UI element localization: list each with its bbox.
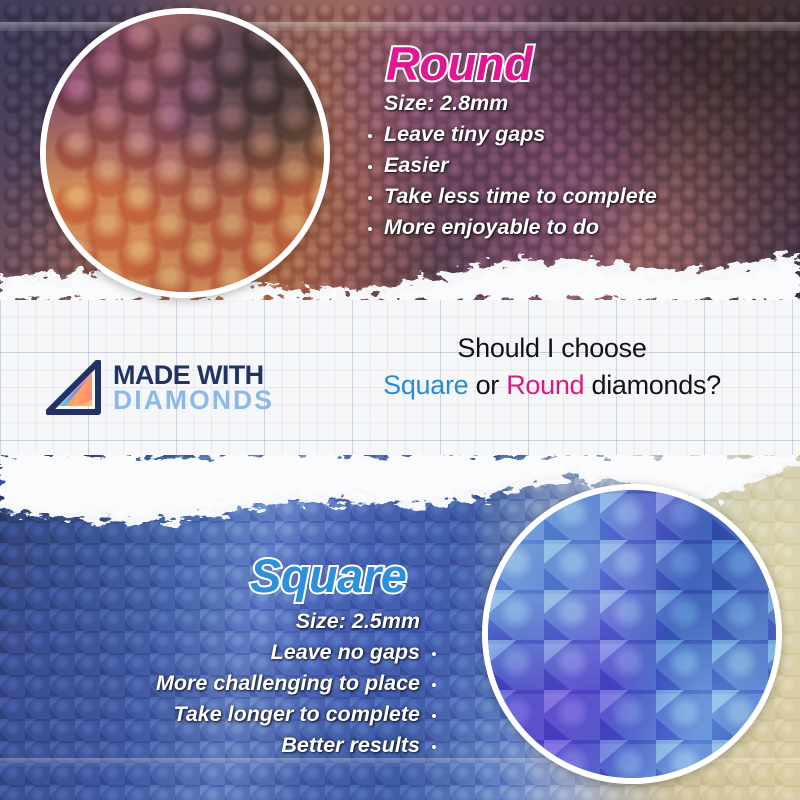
square-magnifier-lens xyxy=(482,484,782,784)
square-size-item: Size: 2.5mm xyxy=(156,606,438,637)
brand-logo-text: MADE WITH DIAMONDS xyxy=(113,363,274,412)
question-block: Should I choose Square or Round diamonds… xyxy=(352,330,752,404)
brand-logo[interactable]: MADE WITH DIAMONDS xyxy=(46,360,274,416)
question-joiner: or xyxy=(468,370,506,400)
square-title: Square xyxy=(250,548,406,603)
round-bullet-3: More enjoyable to do xyxy=(366,212,657,243)
round-lens-bead-texture-offset xyxy=(77,41,330,298)
square-feature-list: Size: 2.5mm Leave no gaps More challengi… xyxy=(156,606,438,761)
round-feature-list: Size: 2.8mm Leave tiny gaps Easier Take … xyxy=(366,88,657,243)
round-bullet-0: Leave tiny gaps xyxy=(366,119,657,150)
square-bullet-0: Leave no gaps xyxy=(156,637,438,668)
brand-line-2: DIAMONDS xyxy=(113,388,274,412)
question-line-1: Should I choose xyxy=(352,330,752,367)
diamond-prism-logo-icon xyxy=(46,360,102,416)
square-bullet-1: More challenging to place xyxy=(156,668,438,699)
question-tail: diamonds? xyxy=(584,370,721,400)
round-magnifier-lens xyxy=(40,8,330,298)
question-line-2: Square or Round diamonds? xyxy=(352,367,752,404)
square-bullet-2: Take longer to complete xyxy=(156,699,438,730)
round-bullet-2: Take less time to complete xyxy=(366,181,657,212)
round-title: Round xyxy=(386,36,532,91)
round-size-item: Size: 2.8mm xyxy=(366,88,657,119)
square-lens-bead-texture xyxy=(488,490,782,784)
infographic-poster: Round Size: 2.8mm Leave tiny gaps Easier… xyxy=(0,0,800,800)
round-bullet-1: Easier xyxy=(366,150,657,181)
question-square-word: Square xyxy=(383,370,468,400)
square-bullet-3: Better results xyxy=(156,730,438,761)
question-round-word: Round xyxy=(506,370,584,400)
